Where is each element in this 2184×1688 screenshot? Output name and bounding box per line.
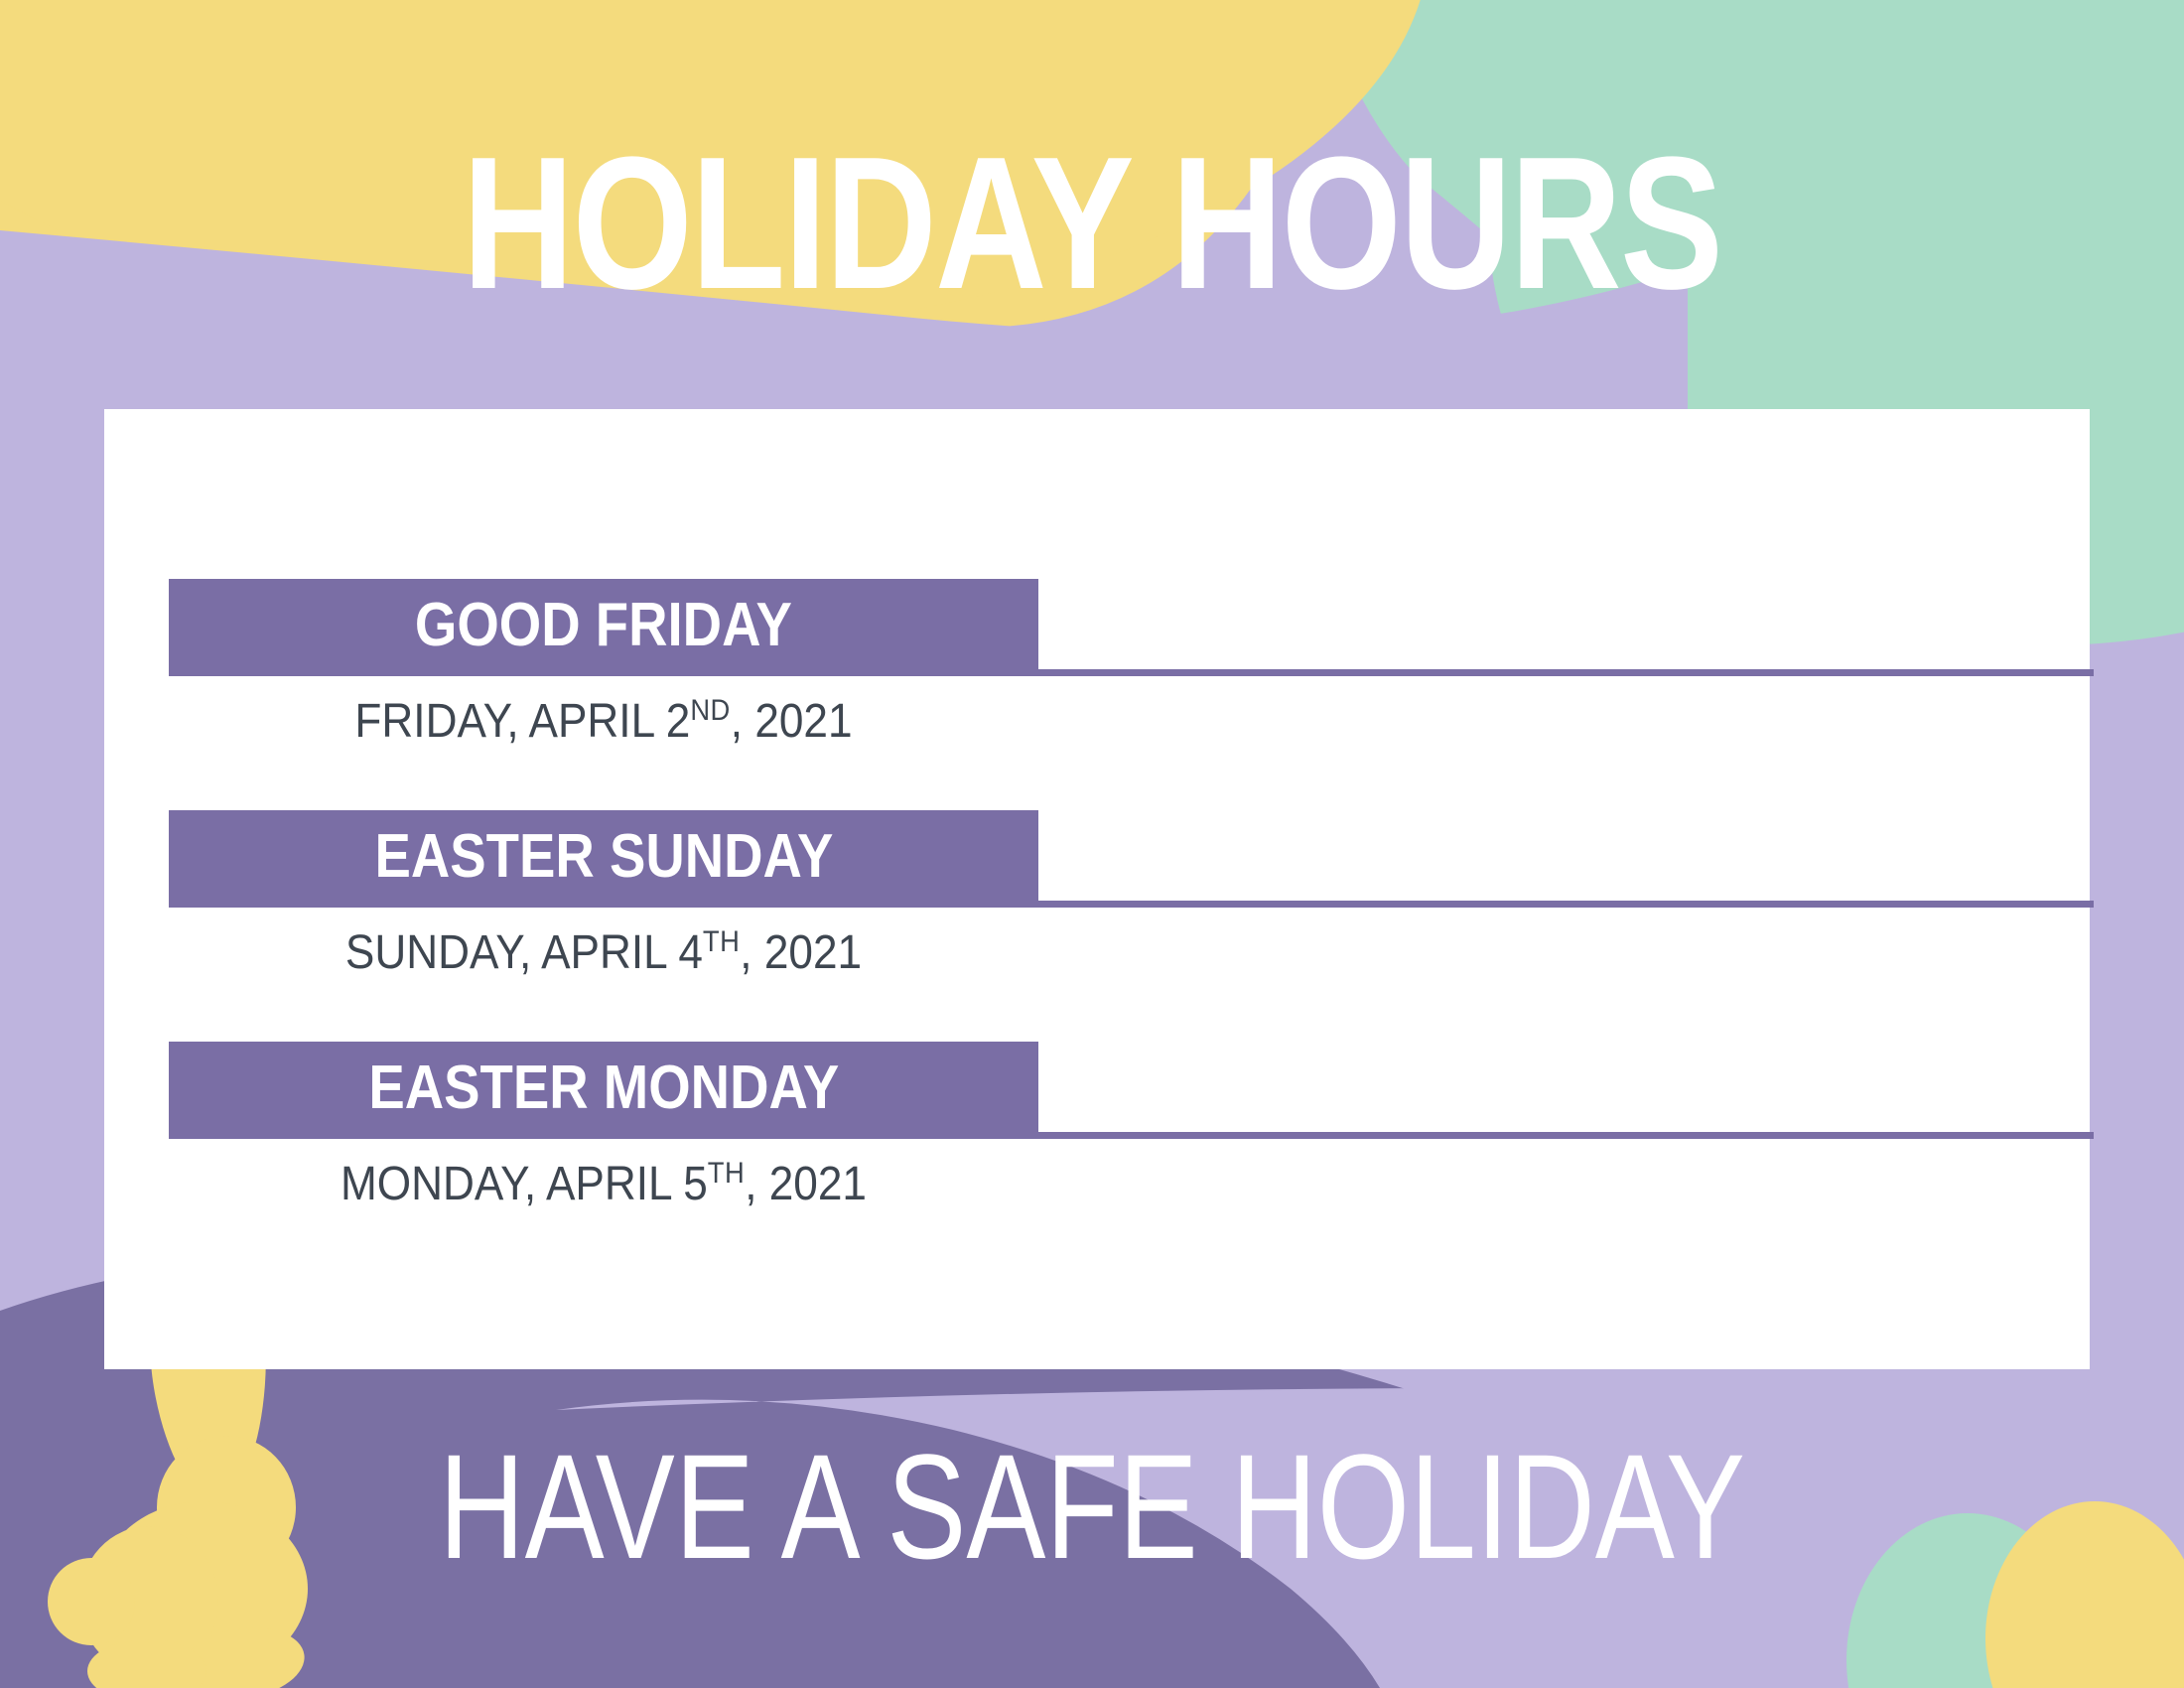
- holiday-date-label: MONDAY, APRIL 5TH, 2021: [204, 1145, 1004, 1213]
- holiday-name-label: EASTER SUNDAY: [374, 826, 833, 892]
- holiday-date-year: , 2021: [745, 1158, 867, 1210]
- holiday-hours-poster: HOLIDAY HOURS GOOD FRIDAY FRIDAY, APRIL …: [0, 0, 2184, 1688]
- hours-write-in-line[interactable]: [1038, 1132, 2094, 1139]
- holiday-date-ordinal: ND: [690, 694, 730, 727]
- holiday-name-bar: EASTER SUNDAY: [169, 810, 1038, 908]
- hours-write-in-line[interactable]: [1038, 901, 2094, 908]
- holiday-date-prefix: FRIDAY, APRIL 2: [354, 695, 690, 748]
- footer-message: HAVE A SAFE HOLIDAY: [218, 1432, 1966, 1581]
- holiday-date-year: , 2021: [740, 926, 862, 979]
- hours-write-in-line[interactable]: [1038, 669, 2094, 676]
- holiday-date-ordinal: TH: [703, 925, 740, 958]
- holiday-date-label: SUNDAY, APRIL 4TH, 2021: [204, 914, 1004, 982]
- schedule-card: GOOD FRIDAY FRIDAY, APRIL 2ND, 2021 EAST…: [104, 409, 2090, 1369]
- holiday-name-label: EASTER MONDAY: [368, 1057, 839, 1123]
- holiday-name-label: GOOD FRIDAY: [415, 595, 792, 660]
- holiday-name-bar: EASTER MONDAY: [169, 1042, 1038, 1139]
- holiday-date-ordinal: TH: [708, 1157, 745, 1190]
- page-title: HOLIDAY HOURS: [197, 129, 1987, 318]
- holiday-date-label: FRIDAY, APRIL 2ND, 2021: [204, 682, 1004, 751]
- holiday-date-prefix: MONDAY, APRIL 5: [341, 1158, 708, 1210]
- holiday-date-prefix: SUNDAY, APRIL 4: [345, 926, 703, 979]
- holiday-date-year: , 2021: [731, 695, 853, 748]
- holiday-name-bar: GOOD FRIDAY: [169, 579, 1038, 676]
